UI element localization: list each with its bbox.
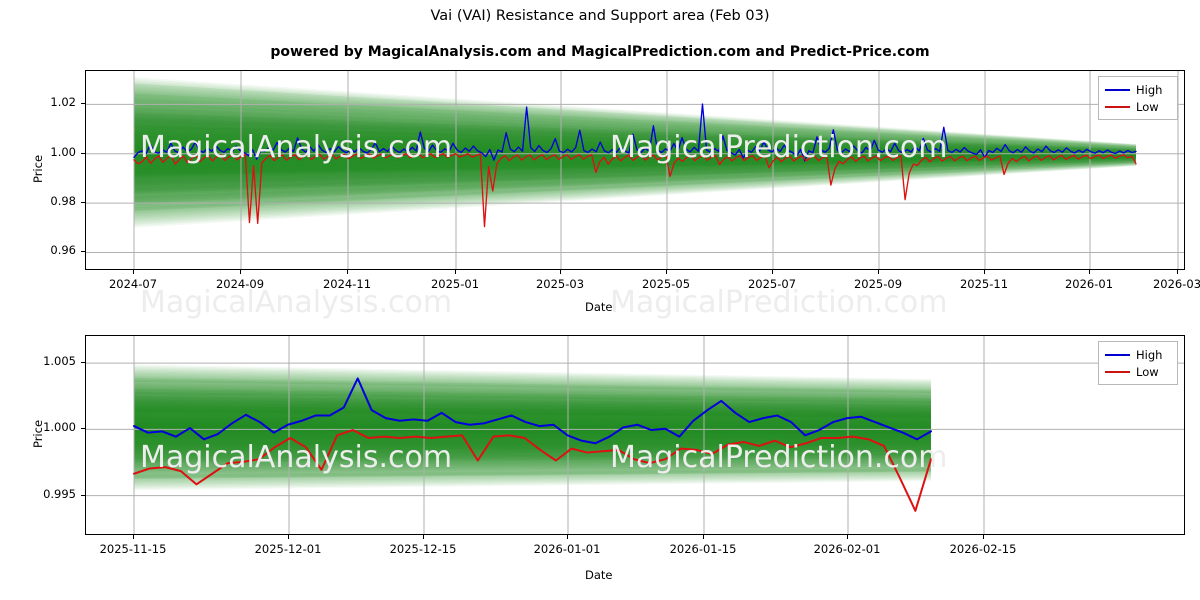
y-tick-mark xyxy=(81,428,85,429)
x-tick-mark xyxy=(567,535,568,539)
legend-item-high[interactable]: High xyxy=(1105,346,1170,363)
watermark-text: MagicalPrediction.com xyxy=(610,440,948,475)
x-tick-mark xyxy=(983,535,984,539)
watermark-text: MagicalAnalysis.com xyxy=(140,130,452,165)
y-tick-mark xyxy=(81,495,85,496)
legend-swatch-low xyxy=(1105,371,1130,373)
x-tick-mark xyxy=(133,535,134,539)
chart-page: Vai (VAI) Resistance and Support area (F… xyxy=(0,0,1200,600)
y-tick-label: 1.005 xyxy=(0,354,76,368)
legend-label: High xyxy=(1136,348,1162,362)
watermark-text: MagicalAnalysis.com xyxy=(140,285,452,320)
x-tick-label: 2026-02-01 xyxy=(807,542,887,556)
legend-label: Low xyxy=(1136,365,1159,379)
x-tick-label: 2026-02-15 xyxy=(943,542,1023,556)
legend-swatch-high xyxy=(1105,354,1130,356)
bottom-y-axis-label: Price xyxy=(31,394,45,474)
x-tick-label: 2025-11-15 xyxy=(93,542,173,556)
watermark-text: MagicalPrediction.com xyxy=(610,130,948,165)
watermark-text: MagicalAnalysis.com xyxy=(140,440,452,475)
legend-item-low[interactable]: Low xyxy=(1105,363,1170,380)
y-tick-label: 0.995 xyxy=(0,487,76,501)
watermark-text: MagicalPrediction.com xyxy=(610,285,948,320)
x-tick-label: 2025-12-01 xyxy=(248,542,328,556)
bottom-legend[interactable]: HighLow xyxy=(1098,341,1178,385)
x-tick-mark xyxy=(703,535,704,539)
x-tick-mark xyxy=(847,535,848,539)
x-tick-label: 2026-01-15 xyxy=(663,542,743,556)
x-tick-label: 2026-01-01 xyxy=(527,542,607,556)
bottom-x-axis-label: Date xyxy=(585,568,613,582)
x-tick-mark xyxy=(288,535,289,539)
x-tick-mark xyxy=(423,535,424,539)
y-tick-mark xyxy=(81,362,85,363)
bottom-plot-svg xyxy=(86,336,1185,535)
x-tick-label: 2025-12-15 xyxy=(383,542,463,556)
bottom-plot-area xyxy=(85,335,1185,535)
